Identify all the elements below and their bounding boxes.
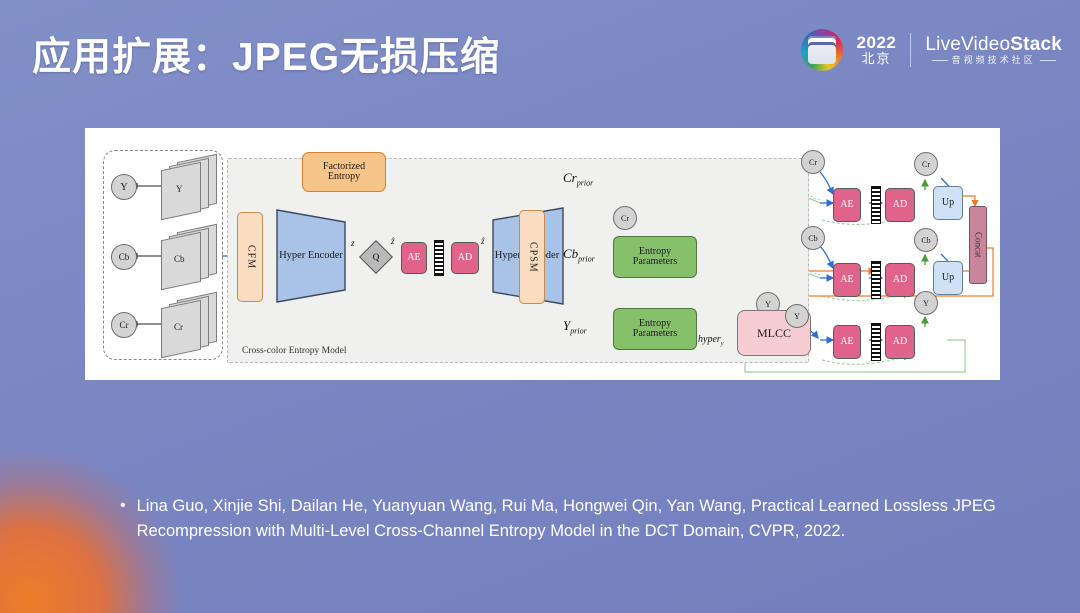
brand-name-part2: Stack	[1010, 34, 1062, 55]
upsample-block-cr: Up	[933, 186, 963, 220]
codec-ctx-circle-y: Y	[785, 304, 809, 328]
bitstream-icon-cr	[871, 186, 881, 224]
entropy-parameters-y-block: Entropy Parameters	[613, 308, 697, 350]
hyper-ae-block: AE	[401, 242, 427, 274]
event-city: 北京	[861, 52, 891, 66]
architecture-diagram: Y Cb Cr Y Cb Cr Cross-color Entropy Mode…	[85, 128, 1000, 380]
brand-name-part1: LiveVideo	[925, 34, 1010, 55]
factorized-entropy-label: Factorized Entropy	[303, 162, 385, 183]
label-z-hat: ẑ	[391, 236, 395, 246]
bitstream-icon-y	[871, 323, 881, 361]
input-plane-label-cr: Cr	[174, 322, 183, 332]
cb-prior-label: Cbprior	[563, 246, 595, 264]
logo-divider	[910, 33, 911, 67]
input-circle-y: Y	[111, 174, 137, 200]
hyper-bitstream-icon	[434, 240, 444, 276]
hyper-encoder-block: Hyper Encoder	[275, 208, 347, 304]
label-z: z	[351, 238, 355, 248]
codec-ae-cb: AE	[833, 263, 861, 297]
slide-background: 应用扩展：JPEG无损压缩 2022 北京 LiveVideoStack 音视频…	[0, 0, 1080, 613]
citation: • Lina Guo, Xinjie Shi, Dailan He, Yuany…	[120, 494, 1060, 544]
cfm-block: CFM	[237, 212, 263, 302]
citation-text: Lina Guo, Xinjie Shi, Dailan He, Yuanyua…	[137, 494, 1060, 544]
figure-panel: Y Cb Cr Y Cb Cr Cross-color Entropy Mode…	[85, 128, 1000, 380]
codec-out-circle-cr: Cr	[914, 152, 938, 176]
codec-ae-y: AE	[833, 325, 861, 359]
event-year: 2022	[857, 34, 897, 52]
hyper-encoder-label: Hyper Encoder	[275, 208, 347, 304]
upsample-block-cb: Up	[933, 261, 963, 295]
codec-ctx-circle-cr: Cr	[801, 150, 825, 174]
input-plane-label-y: Y	[176, 184, 183, 194]
citation-bullet: •	[120, 494, 126, 517]
y-prior-label: Yprior	[563, 318, 587, 336]
factorized-entropy-block: Factorized Entropy	[302, 152, 386, 192]
input-plane-label-cb: Cb	[174, 254, 185, 264]
entropy-model-caption: Cross-color Entropy Model	[242, 346, 347, 356]
page-title: 应用扩展：JPEG无损压缩	[32, 26, 500, 82]
hyper-y-label: hypery	[698, 334, 724, 347]
codec-out-circle-cb: Cb	[914, 228, 938, 252]
codec-ad-cb: AD	[885, 263, 915, 297]
livevideostack-logo: LiveVideoStack 音视频技术社区	[925, 35, 1062, 66]
concat-block: Concat	[969, 206, 987, 284]
branding-area: 2022 北京 LiveVideoStack 音视频技术社区	[801, 26, 1062, 74]
event-year-city: 2022 北京	[857, 34, 897, 65]
codec-ad-cr: AD	[885, 188, 915, 222]
bitstream-icon-cb	[871, 261, 881, 299]
event-logo-icon	[801, 29, 843, 71]
input-plane-y: Y	[161, 158, 221, 216]
quantizer-label: Q	[365, 246, 387, 268]
brand-tagline: 音视频技术社区	[952, 56, 1036, 66]
codec-ad-y: AD	[885, 325, 915, 359]
input-plane-cb: Cb	[161, 228, 221, 286]
hyper-ad-block: AD	[451, 242, 479, 274]
cpsm-block: CPSM	[519, 210, 545, 304]
input-circle-cb: Cb	[111, 244, 137, 270]
cr-prior-label: Crprior	[563, 170, 593, 188]
codec-ae-cr: AE	[833, 188, 861, 222]
context-circle-cr: Cr	[613, 206, 637, 230]
codec-out-circle-y: Y	[914, 291, 938, 315]
entropy-parameters-cb-block: Entropy Parameters	[613, 236, 697, 278]
codec-ctx-circle-cb: Cb	[801, 226, 825, 250]
label-z-tilde: ẑ	[481, 236, 485, 246]
input-plane-cr: Cr	[161, 296, 221, 354]
input-circle-cr: Cr	[111, 312, 137, 338]
